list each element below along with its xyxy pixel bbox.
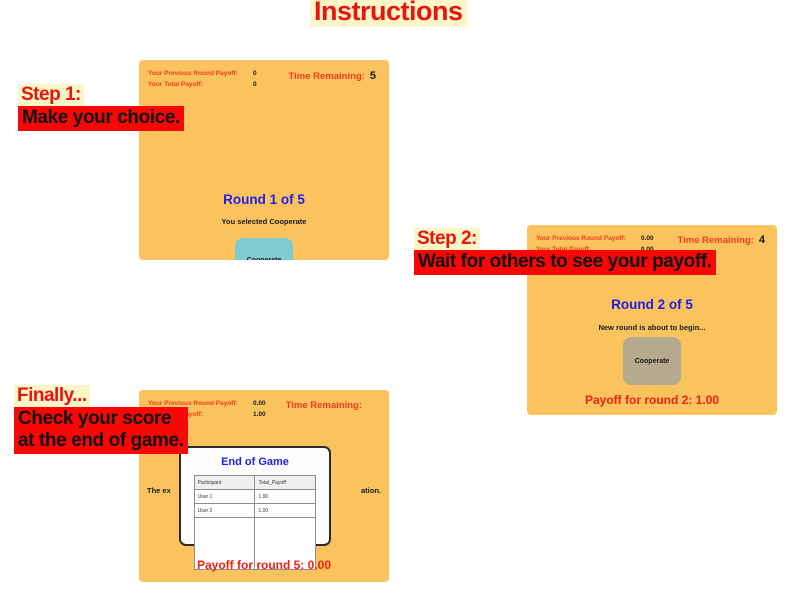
timer-label: Time Remaining: bbox=[289, 71, 365, 82]
table-header-row: Participant Total_Payoff bbox=[194, 476, 316, 490]
score-table: Participant Total_Payoff User 1 1.00 Use… bbox=[194, 475, 317, 570]
panel1-round-title: Round 1 of 5 bbox=[139, 192, 389, 207]
panel1-timer: Time Remaining:5 bbox=[289, 70, 377, 82]
panel2-round-status: New round is about to begin... bbox=[527, 323, 777, 332]
panel3-background-note-left: The ex bbox=[147, 486, 171, 495]
cell-participant: User 2 bbox=[194, 504, 255, 518]
timer-value: 5 bbox=[370, 70, 376, 82]
callout-step-1-label: Step 1: bbox=[18, 84, 84, 106]
callout-finally: Finally... Check your score at the end o… bbox=[14, 385, 188, 454]
total-payoff-value: 1.00 bbox=[253, 409, 266, 420]
column-header-total-payoff: Total_Payoff bbox=[255, 476, 316, 490]
panel3-payoff-line: Payoff for round 5: 0.00 bbox=[139, 558, 389, 572]
modal-footer: Back to Main Menu bbox=[181, 579, 329, 582]
timer-value: 4 bbox=[759, 234, 765, 246]
panel3-background-note-right: ation. bbox=[361, 486, 381, 495]
previous-payoff-value: 0.00 bbox=[253, 398, 266, 409]
table-row: User 2 1.00 bbox=[194, 504, 316, 518]
panel1-round-status: You selected Cooperate bbox=[139, 217, 389, 226]
cell-total-payoff: 1.00 bbox=[255, 504, 316, 518]
page-title: Instructions bbox=[310, 0, 467, 27]
panel2-round-title: Round 2 of 5 bbox=[527, 297, 777, 312]
table-row: User 1 1.00 bbox=[194, 490, 316, 504]
cell-participant: User 1 bbox=[194, 490, 255, 504]
cooperate-button[interactable]: Cooperate bbox=[235, 238, 293, 260]
callout-finally-label: Finally... bbox=[14, 385, 90, 407]
end-of-game-modal: End of Game Participant Total_Payoff Use… bbox=[179, 446, 331, 546]
modal-title: End of Game bbox=[181, 456, 329, 468]
panel3-timer: Time Remaining: bbox=[286, 399, 367, 411]
callout-finally-text: Check your score at the end of game. bbox=[14, 407, 188, 454]
timer-label: Time Remaining: bbox=[286, 400, 362, 411]
cell-total-payoff: 1.00 bbox=[255, 490, 316, 504]
callout-step-2-text: Wait for others to see your payoff. bbox=[414, 250, 716, 275]
previous-payoff-value: 0 bbox=[253, 68, 257, 79]
total-payoff-value: 0 bbox=[253, 79, 257, 90]
callout-finally-line-1: Check your score bbox=[18, 408, 184, 430]
callout-step-2-label: Step 2: bbox=[414, 228, 480, 250]
panel2-payoff-line: Payoff for round 2: 1.00 bbox=[527, 393, 777, 407]
previous-payoff-label: Your Previous Round Payoff: bbox=[148, 68, 253, 79]
callout-step-2: Step 2: Wait for others to see your payo… bbox=[414, 228, 716, 275]
callout-step-1-text: Make your choice. bbox=[18, 106, 184, 131]
cooperate-button-disabled: Cooperate bbox=[623, 337, 681, 385]
callout-finally-line-2: at the end of game. bbox=[18, 430, 184, 452]
callout-step-1: Step 1: Make your choice. bbox=[18, 84, 184, 131]
column-header-participant: Participant bbox=[194, 476, 255, 490]
